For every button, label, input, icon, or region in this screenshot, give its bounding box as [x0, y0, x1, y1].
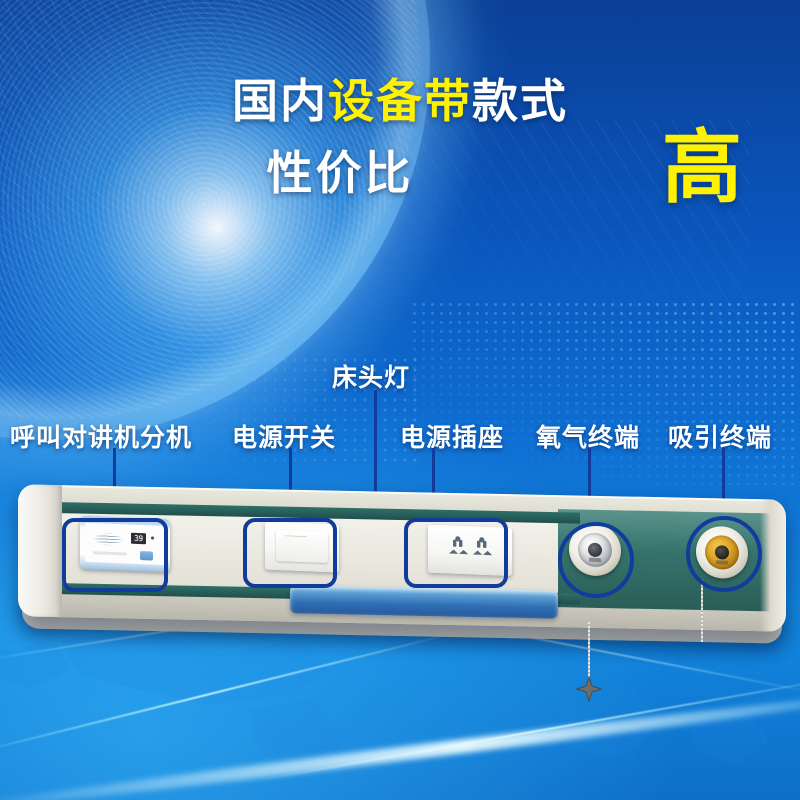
headline-emphasis: 高 [662, 128, 742, 208]
poster-canvas: 国内设备带款式 性价比 高 呼叫对讲机分机 电源开关 床头灯 电源插座 氧气终端… [0, 0, 800, 800]
panel-end-cap-right [760, 499, 786, 632]
headline-line-1: 国内设备带款式 [0, 78, 800, 124]
callout-label-power-switch: 电源开关 [232, 418, 336, 454]
highlight-circle-suction [686, 516, 762, 592]
callout-label-bed-lamp: 床头灯 [332, 358, 410, 394]
pull-cord-handle-icon[interactable] [576, 676, 602, 702]
panel-highlight [18, 484, 64, 617]
pull-cord-upper[interactable] [701, 580, 703, 642]
highlight-box-intercom [62, 518, 168, 592]
highlight-circle-oxygen [558, 522, 634, 598]
callout-label-power-socket: 电源插座 [400, 418, 504, 454]
highlight-box-power-switch [243, 518, 337, 588]
bed-lamp-light-strip [290, 585, 558, 618]
highlight-box-power-socket [404, 518, 508, 588]
headline-part-1: 国内 [232, 75, 328, 127]
halftone-dots [410, 300, 800, 485]
callout-label-intercom: 呼叫对讲机分机 [10, 418, 192, 454]
callout-label-suction-outlet: 吸引终端 [668, 418, 772, 454]
headline-part-2: 设备带 [328, 75, 472, 127]
headline-part-3: 款式 [472, 75, 568, 127]
